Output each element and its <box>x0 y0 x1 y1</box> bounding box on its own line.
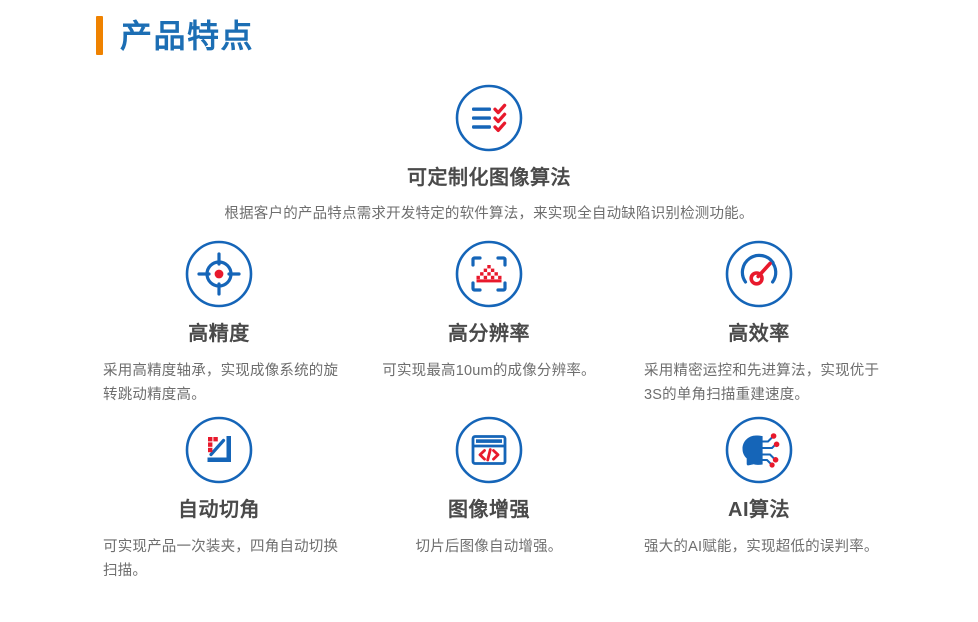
feature-title: 自动切角 <box>178 498 260 522</box>
feature-title: AI算法 <box>728 498 790 522</box>
feature-card-ai-algorithm: AI算法 强大的AI赋能，实现超低的误判率。 <box>624 414 894 584</box>
feature-title: 高效率 <box>728 322 790 346</box>
corner-cut-icon <box>183 414 255 486</box>
feature-card-high-resolution: 高分辨率 可实现最高10um的成像分辨率。 <box>354 238 624 408</box>
feature-description: 可实现产品一次装夹，四角自动切换扫描。 <box>97 536 341 584</box>
feature-description: 切片后图像自动增强。 <box>354 536 624 560</box>
checklist-icon <box>453 82 525 154</box>
feature-title: 高分辨率 <box>448 322 530 346</box>
feature-description: 根据客户的产品特点需求开发特定的软件算法，来实现全自动缺陷识别检测功能。 <box>139 203 839 227</box>
product-features-page: 产品特点 可定制化图像算法 根据客户的产品特点需求开发特定的软件算法，来实现全自… <box>0 0 978 622</box>
accent-bar <box>96 16 103 55</box>
feature-row-1: 高精度 采用高精度轴承，实现成像系统的旋转跳动精度高。 <box>0 238 978 408</box>
feature-title: 可定制化图像算法 <box>407 166 571 190</box>
speedometer-icon <box>723 238 795 310</box>
ai-brain-icon <box>723 414 795 486</box>
feature-row-2: 自动切角 可实现产品一次装夹，四角自动切换扫描。 图像增强 <box>0 414 978 584</box>
feature-card-customizable-algorithm: 可定制化图像算法 根据客户的产品特点需求开发特定的软件算法，来实现全自动缺陷识别… <box>139 82 839 227</box>
page-title: 产品特点 <box>120 20 254 52</box>
feature-description: 可实现最高10um的成像分辨率。 <box>354 360 624 384</box>
focus-frame-icon <box>453 238 525 310</box>
feature-card-auto-corner-cut: 自动切角 可实现产品一次装夹，四角自动切换扫描。 <box>84 414 354 584</box>
feature-title: 图像增强 <box>448 498 530 522</box>
section-header: 产品特点 <box>96 16 254 55</box>
crosshair-target-icon <box>183 238 255 310</box>
code-window-icon <box>453 414 525 486</box>
feature-grid: 高精度 采用高精度轴承，实现成像系统的旋转跳动精度高。 <box>0 238 978 584</box>
feature-title: 高精度 <box>188 322 250 346</box>
feature-card-high-precision: 高精度 采用高精度轴承，实现成像系统的旋转跳动精度高。 <box>84 238 354 408</box>
feature-card-high-efficiency: 高效率 采用精密运控和先进算法，实现优于3S的单角扫描重建速度。 <box>624 238 894 408</box>
feature-card-image-enhancement: 图像增强 切片后图像自动增强。 <box>354 414 624 584</box>
feature-description: 采用高精度轴承，实现成像系统的旋转跳动精度高。 <box>97 360 341 408</box>
feature-description: 强大的AI赋能，实现超低的误判率。 <box>636 536 882 560</box>
hero-feature-row: 可定制化图像算法 根据客户的产品特点需求开发特定的软件算法，来实现全自动缺陷识别… <box>0 82 978 227</box>
feature-description: 采用精密运控和先进算法，实现优于3S的单角扫描重建速度。 <box>636 360 882 408</box>
